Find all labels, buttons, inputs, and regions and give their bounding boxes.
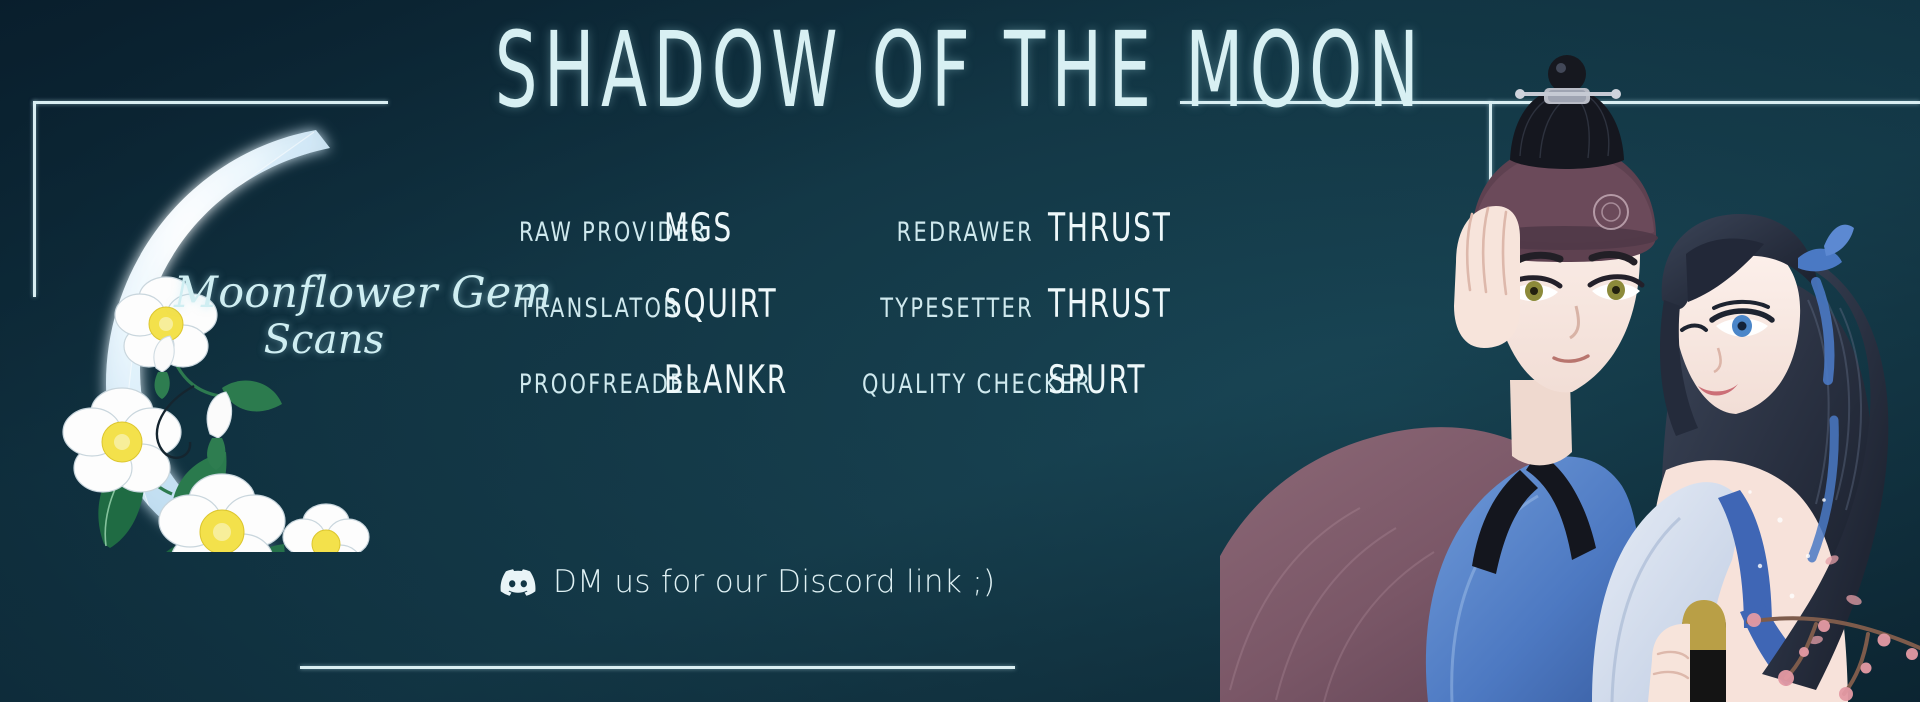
credit-value: THRUST — [1048, 206, 1172, 251]
credit-label: RAW PROVIDER — [519, 217, 648, 248]
credit-row: TRANSLATOR SQUIRT — [498, 282, 819, 358]
scanlation-group-logo: Moonflower Gem Scans — [44, 112, 464, 562]
discord-icon[interactable] — [500, 569, 536, 596]
credit-value: MGS — [664, 206, 733, 251]
bottom-divider-rule — [300, 666, 1015, 669]
credit-label: QUALITY CHECKER — [862, 369, 1034, 400]
credit-value: BLANKR — [664, 358, 788, 403]
discord-link-row[interactable]: DM us for our Discord link ;) — [500, 564, 995, 600]
credit-row: QUALITY CHECKER SPURT — [834, 358, 1202, 434]
credits-column-left: RAW PROVIDER MGS TRANSLATOR SQUIRT PROOF… — [498, 206, 819, 434]
credit-value: SPURT — [1048, 358, 1146, 403]
credit-value: THRUST — [1048, 282, 1172, 327]
credit-row: PROOFREADER BLANKR — [498, 358, 819, 434]
credits-column-right: REDRAWER THRUST TYPESETTER THRUST QUALIT… — [834, 206, 1202, 434]
group-name-line2: Scans — [174, 320, 474, 361]
chapter-illustration — [1220, 0, 1920, 702]
credit-label: REDRAWER — [862, 217, 1034, 248]
credit-row: REDRAWER THRUST — [834, 206, 1202, 282]
credit-label: TYPESETTER — [862, 293, 1034, 324]
discord-link-text[interactable]: DM us for our Discord link ;) — [553, 564, 995, 600]
credit-value: SQUIRT — [664, 282, 777, 327]
group-name: Moonflower Gem Scans — [174, 272, 474, 361]
frame-bracket-left-vertical — [33, 101, 36, 297]
group-name-line1: Moonflower Gem — [174, 272, 474, 316]
credits-banner: SHADOW OF THE MOON — [0, 0, 1920, 702]
credit-label: PROOFREADER — [519, 369, 648, 400]
credit-label: TRANSLATOR — [519, 293, 648, 324]
credit-row: TYPESETTER THRUST — [834, 282, 1202, 358]
credit-row: RAW PROVIDER MGS — [498, 206, 819, 282]
